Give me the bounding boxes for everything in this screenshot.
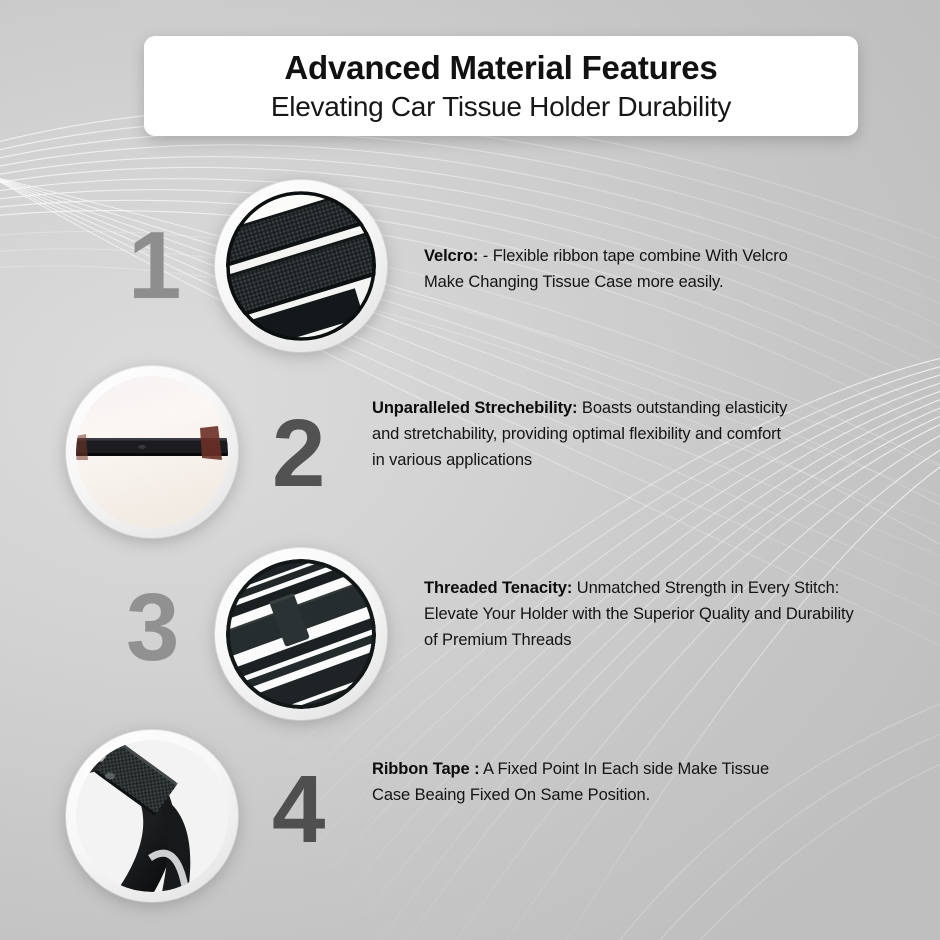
- feature-image-badge-2: [66, 366, 238, 538]
- ribbon-tape-on-headrest-photo: [76, 740, 228, 892]
- feature-number-3: 3: [126, 580, 179, 676]
- feature-text-2: Unparalleled Strechebility: Boasts outst…: [372, 396, 792, 474]
- feature-heading-1: Velcro:: [424, 247, 478, 265]
- feature-number-1: 1: [128, 218, 181, 314]
- page-title: Advanced Material Features: [284, 50, 717, 86]
- feature-text-1: Velcro: - Flexible ribbon tape combine W…: [424, 244, 828, 296]
- feature-text-3: Threaded Tenacity: Unmatched Strength in…: [424, 576, 854, 654]
- feature-number-2: 2: [272, 406, 325, 502]
- feature-image-badge-4: [66, 730, 238, 902]
- feature-heading-4: Ribbon Tape :: [372, 760, 479, 778]
- feature-heading-3: Threaded Tenacity:: [424, 579, 572, 597]
- page-subtitle: Elevating Car Tissue Holder Durability: [271, 91, 731, 122]
- title-card: Advanced Material Features Elevating Car…: [144, 36, 858, 136]
- feature-image-badge-3: [215, 548, 387, 720]
- velcro-strips-photo: [226, 191, 376, 341]
- stitched-straps-photo: [226, 559, 376, 709]
- infographic-canvas: Advanced Material Features Elevating Car…: [0, 0, 940, 940]
- feature-body-1: - Flexible ribbon tape combine With Velc…: [424, 247, 788, 291]
- feature-heading-2: Unparalleled Strechebility:: [372, 399, 577, 417]
- feature-image-badge-1: [215, 180, 387, 352]
- elastic-band-photo: [76, 376, 228, 528]
- feature-text-4: Ribbon Tape : A Fixed Point In Each side…: [372, 757, 792, 809]
- feature-number-4: 4: [272, 762, 325, 858]
